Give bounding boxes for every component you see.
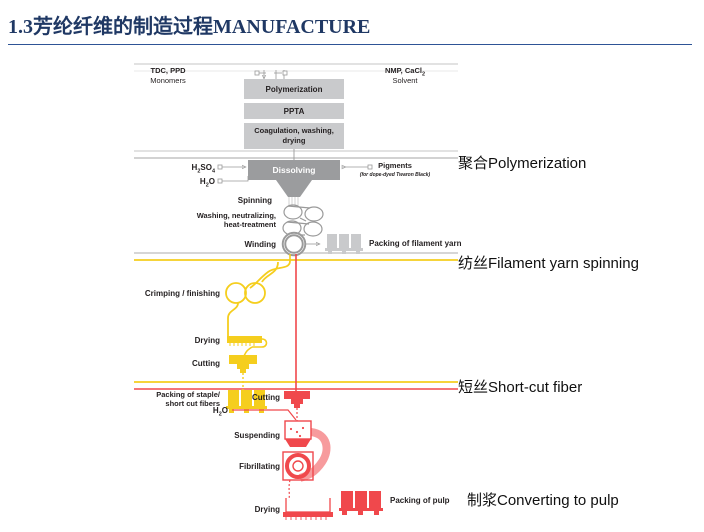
suspending-tank — [285, 421, 311, 447]
stage-label-short-cut-fiber: 短丝Short-cut fiber — [458, 376, 582, 397]
to-pulp-drying-line — [289, 480, 290, 500]
box-label-polymerization: Polymerization — [266, 85, 323, 94]
label-pigments-sub: (for dope-dyed Twaron Black) — [360, 172, 431, 178]
step-label-spinning: Spinning — [238, 196, 272, 205]
crimping-yarn-path-2 — [262, 262, 278, 282]
box-label-coagulation-line2: drying — [283, 136, 306, 145]
pulp-drying-belt — [283, 498, 333, 517]
box-label-coagulation: Coagulation, washing, — [254, 126, 334, 135]
crimping-wheel-left — [226, 283, 246, 303]
input-sublabel-monomers: Monomers — [150, 76, 186, 85]
output-label-packing-filament-yarn: Packing of filament yarn — [369, 239, 462, 248]
spinneret-funnel — [276, 180, 312, 197]
step-label-cutting-pulp: Cutting — [252, 393, 280, 402]
step-label-suspending: Suspending — [234, 431, 280, 440]
input-label-h2o-pulp: H2O — [213, 406, 228, 418]
input-sublabel-solvent: Solvent — [392, 76, 418, 85]
output-label-packing-staple-line2: short cut fibers — [165, 399, 220, 408]
dissolving-inlet-lines — [218, 165, 248, 183]
drying-tray-teeth — [230, 343, 254, 346]
output-label-packing-staple: Packing of staple/ — [156, 390, 221, 399]
drying-tray — [227, 336, 267, 347]
title-underline-rule — [8, 44, 692, 45]
step-label-washing: Washing, neutralizing, — [197, 211, 276, 220]
pallet-pulp — [339, 491, 383, 515]
washing-rollers — [283, 205, 323, 236]
manufacture-process-diagram: TDC, PPD Monomers NMP, CaCl2 Solvent Pol… — [0, 48, 704, 532]
step-label-washing-line2: heat-treatment — [224, 220, 277, 229]
input-label-h2so4: H2SO4 — [192, 163, 216, 175]
box-label-ppta: PPTA — [284, 107, 305, 116]
section-converting-to-pulp — [232, 391, 383, 520]
box-label-dissolving: Dissolving — [273, 165, 316, 175]
cutter-device — [229, 355, 257, 373]
section-short-cut-fiber — [226, 261, 290, 413]
step-label-crimping: Crimping / finishing — [145, 289, 220, 298]
input-label-h2o-spinning: H2O — [200, 177, 215, 189]
to-cutter-line — [244, 347, 252, 356]
pigments-inlet-line — [342, 165, 372, 169]
input-label-tdc-ppd: TDC, PPD — [150, 66, 186, 75]
step-label-drying-pulp: Drying — [255, 505, 280, 514]
page-title: 1.3芳纶纤维的制造过程MANUFACTURE — [8, 10, 370, 39]
stage-label-polymerization: 聚合Polymerization — [458, 152, 586, 173]
to-drying-line — [228, 303, 238, 336]
pulp-cutter — [284, 391, 310, 408]
slide-title-bar: 1.3芳纶纤维的制造过程MANUFACTURE — [0, 0, 704, 48]
step-label-cutting-staple: Cutting — [192, 359, 220, 368]
step-label-drying-staple: Drying — [195, 336, 220, 345]
step-label-winding: Winding — [245, 240, 277, 249]
stage-label-filament-yarn-spinning: 纺丝Filament yarn spinning — [458, 252, 639, 273]
label-pigments: Pigments — [378, 161, 412, 170]
output-label-packing-pulp: Packing of pulp — [390, 496, 450, 505]
winding-ring — [284, 234, 304, 254]
process-flow-svg: TDC, PPD Monomers NMP, CaCl2 Solvent Pol… — [0, 48, 704, 532]
stage-label-converting-to-pulp: 制浆Converting to pulp — [467, 489, 619, 510]
pallet-filament-yarn — [325, 234, 363, 254]
pulp-belt-teeth — [286, 517, 326, 520]
crimping-wheel-right — [245, 283, 265, 303]
step-label-fibrillating: Fibrillating — [239, 462, 280, 471]
